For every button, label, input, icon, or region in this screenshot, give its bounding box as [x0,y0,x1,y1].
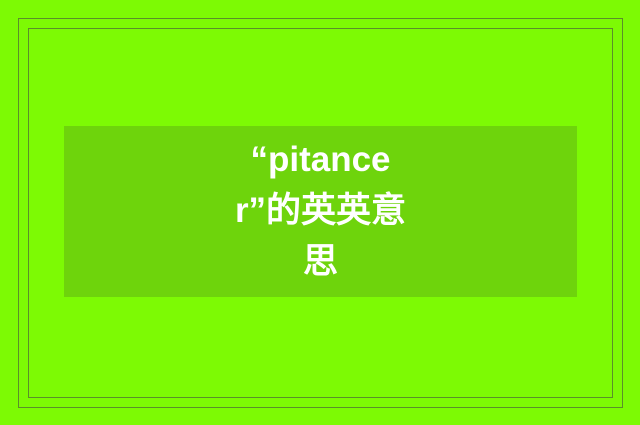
page-title: “pitancer”的英英意思 [226,135,416,287]
slide-canvas: “pitancer”的英英意思 [0,0,640,425]
title-panel: “pitancer”的英英意思 [64,126,577,297]
